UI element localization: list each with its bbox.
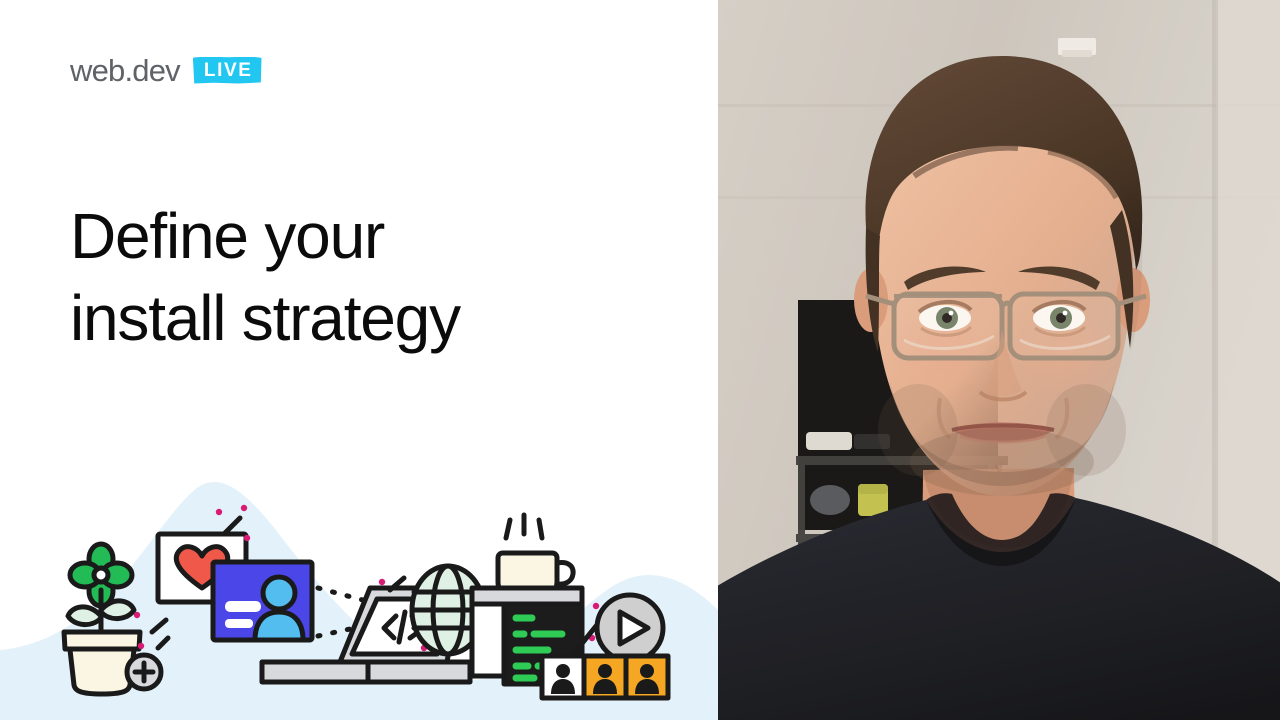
live-badge: LIVE [193, 57, 262, 84]
presenter-webcam-feed [718, 0, 1280, 720]
profile-card-icon [213, 562, 312, 640]
play-button-icon [597, 595, 663, 661]
presentation-stage: web.dev LIVE Define your install strateg… [0, 0, 1280, 720]
avatar-tiles-icon [542, 656, 668, 698]
potted-flower-icon [64, 544, 161, 694]
webdev-live-logo: web.dev LIVE [70, 50, 262, 90]
slide-pane: web.dev LIVE Define your install strateg… [0, 0, 718, 720]
slide-headline: Define your install strategy [70, 196, 650, 360]
slide-illustration [0, 460, 718, 720]
webdev-wordmark: web.dev [70, 55, 180, 86]
